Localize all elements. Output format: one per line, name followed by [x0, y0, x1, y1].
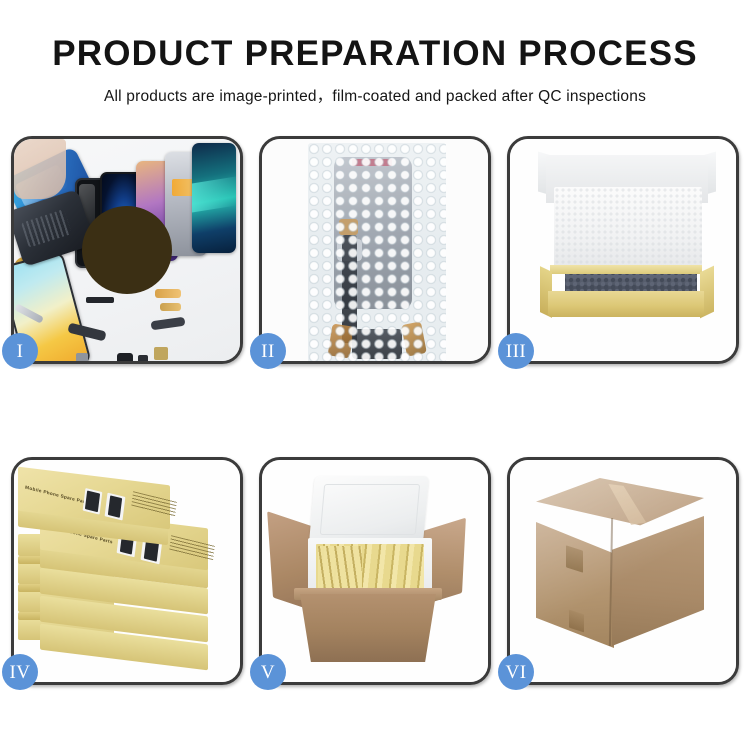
step-1-image — [14, 139, 240, 361]
step-panel-2: II — [259, 136, 491, 364]
header: PRODUCT PREPARATION PROCESS All products… — [0, 0, 750, 106]
step-badge-6: VI — [498, 654, 534, 690]
page-subtitle: All products are image-printed，film-coat… — [0, 84, 750, 106]
steps-grid: I II — [11, 136, 739, 685]
step-2-image — [262, 139, 488, 361]
sim-tray-icon — [76, 353, 88, 361]
bubble-wrap-bag — [308, 143, 446, 361]
box-stack: Mobile Phone Spare Parts Mobile Phone Sp… — [14, 466, 239, 682]
step-badge-1: I — [2, 333, 38, 369]
step-badge-3: III — [498, 333, 534, 369]
step-panel-5: V — [259, 457, 491, 685]
foam-box-lid — [309, 476, 429, 542]
step-panel-3: III — [507, 136, 739, 364]
chip-part-icon — [154, 347, 168, 360]
retail-boxes-inside — [318, 546, 362, 590]
step-3-image — [510, 139, 736, 361]
button-part-icon — [138, 355, 148, 361]
product-preparation-infographic: PRODUCT PREPARATION PROCESS All products… — [0, 0, 750, 750]
carton-right-face — [612, 516, 704, 646]
step-badge-2: II — [250, 333, 286, 369]
step-badge-5: V — [250, 654, 286, 690]
box-label-text: Mobile Phone Spare Parts — [25, 485, 90, 506]
kraft-tray-top-edge — [550, 265, 702, 274]
camera-module-icon — [117, 353, 133, 361]
antenna-strip-part-icon — [86, 297, 114, 303]
hand-icon — [14, 139, 66, 199]
step-panel-4: Mobile Phone Spare Parts Mobile Phone Sp… — [11, 457, 243, 685]
box-spec-lines — [169, 535, 215, 561]
step-panel-6: VI — [507, 457, 739, 685]
flex-cable-part-icon — [155, 289, 181, 298]
box-window-graphic — [83, 488, 103, 515]
carton-front-face — [300, 594, 436, 662]
flex-cable-part-icon — [160, 303, 181, 311]
bubble-texture-overlay — [308, 143, 446, 361]
box-spec-lines — [131, 491, 177, 517]
step-5-image — [262, 460, 488, 682]
box-window-graphic — [105, 493, 126, 521]
foam-sheet — [554, 187, 702, 269]
step-6-image — [510, 460, 736, 682]
flex-cable-part-icon — [151, 317, 186, 331]
step-4-image: Mobile Phone Spare Parts Mobile Phone Sp… — [14, 460, 240, 682]
page-title: PRODUCT PREPARATION PROCESS — [0, 36, 750, 73]
kraft-tray-front — [548, 291, 704, 317]
teal-wave-screen-icon — [192, 143, 236, 253]
step-panel-1: I — [11, 136, 243, 364]
step-badge-4: IV — [2, 654, 38, 690]
